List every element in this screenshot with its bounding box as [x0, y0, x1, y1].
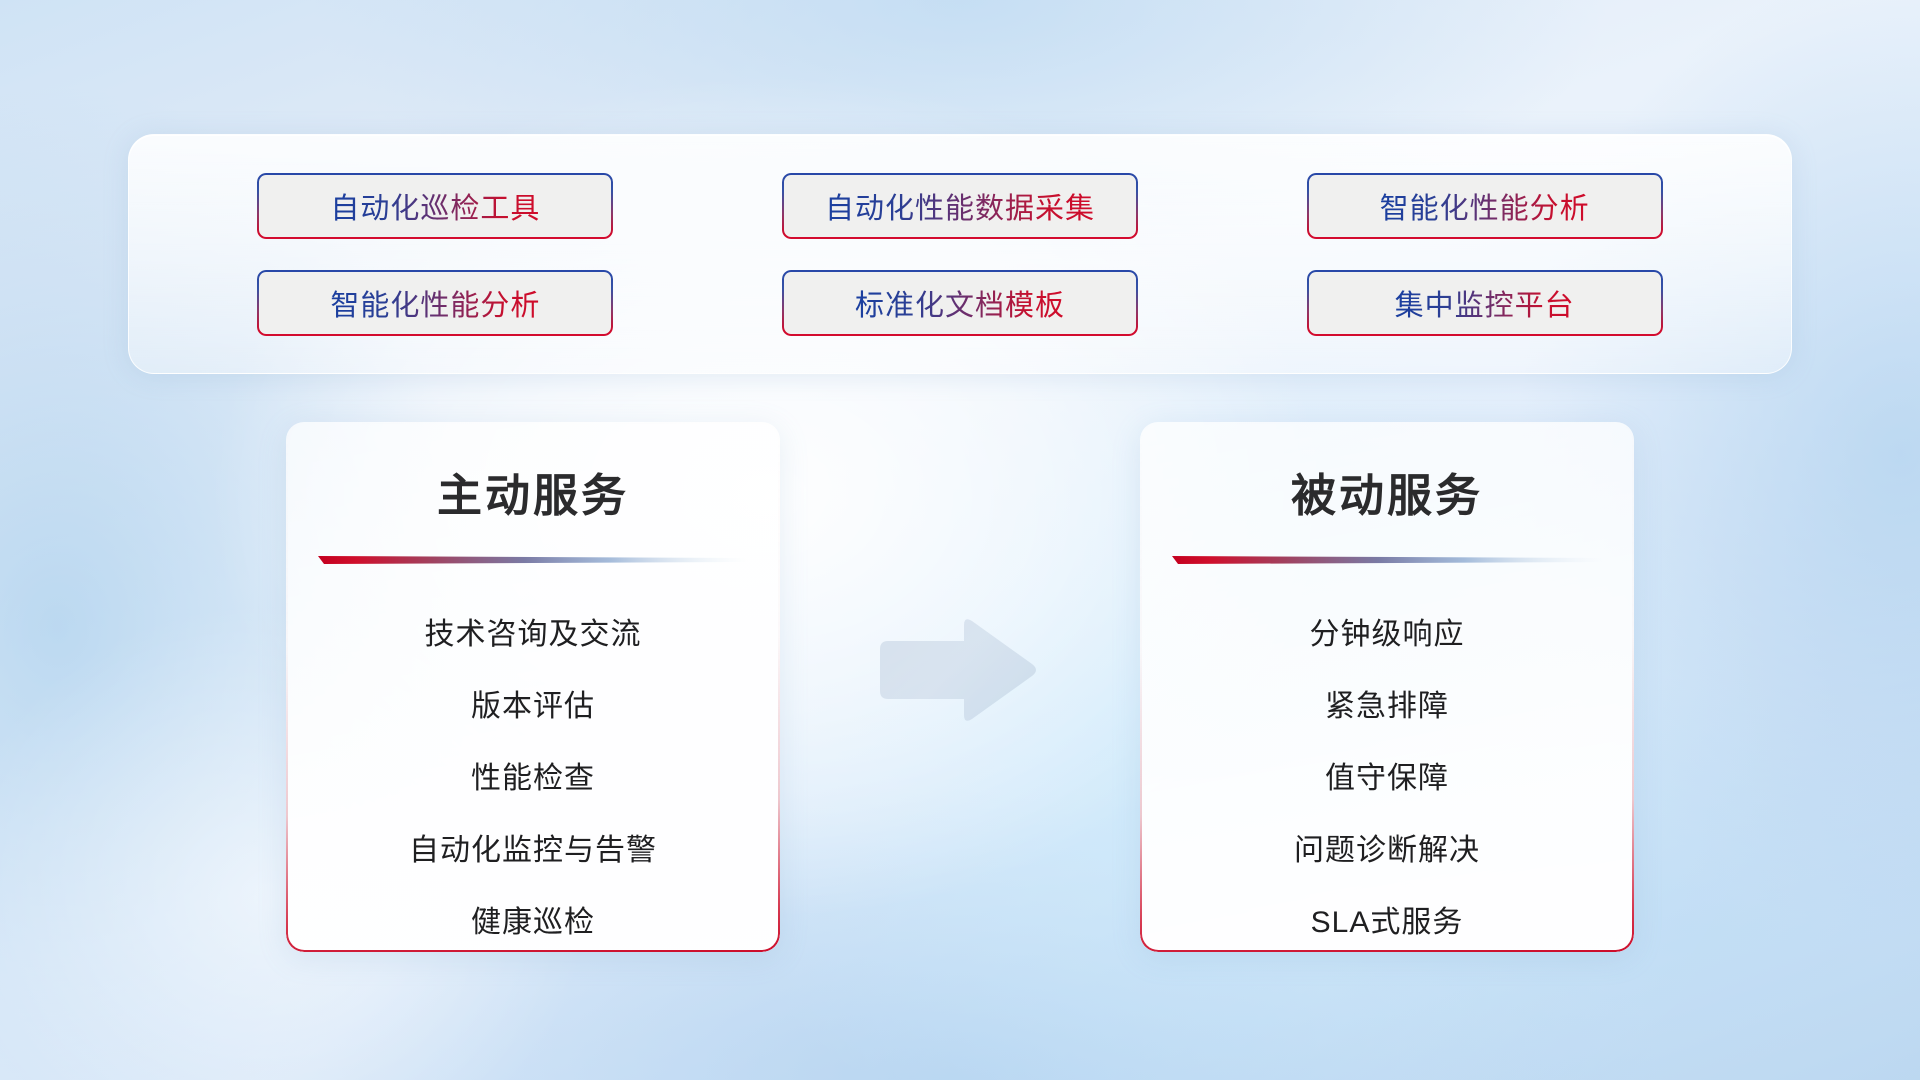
capability-pill-label: 标准化文档模板	[855, 282, 1065, 324]
list-item[interactable]: 健康巡检	[471, 887, 595, 952]
panel-divider	[318, 554, 748, 566]
capability-card: 自动化巡检工具 自动化性能数据采集 智能化性能分析 智能化性能分析 标准化文档模…	[128, 134, 1792, 374]
capability-pill-label: 智能化性能分析	[1380, 185, 1590, 227]
list-item[interactable]: 版本评估	[471, 671, 595, 743]
arrow-right-icon	[872, 615, 1038, 725]
list-item[interactable]: 问题诊断解决	[1294, 815, 1480, 887]
capability-pill[interactable]: 标准化文档模板	[782, 270, 1138, 336]
capability-pill[interactable]: 智能化性能分析	[257, 270, 613, 336]
divider-gradient-bar	[318, 554, 748, 566]
panel-item-list: 技术咨询及交流 版本评估 性能检查 自动化监控与告警 健康巡检	[286, 599, 780, 952]
capability-pill[interactable]: 智能化性能分析	[1307, 173, 1663, 239]
panel-title: 被动服务	[1140, 459, 1634, 524]
list-item[interactable]: 紧急排障	[1325, 671, 1449, 743]
panel-item-list: 分钟级响应 紧急排障 值守保障 问题诊断解决 SLA式服务	[1140, 599, 1634, 952]
list-item[interactable]: SLA式服务	[1311, 887, 1464, 952]
panel-divider	[1172, 554, 1602, 566]
capability-pill-label: 自动化性能数据采集	[825, 185, 1095, 227]
panel-proactive-service: 主动服务 技术咨询及交流 版本评估	[286, 422, 780, 952]
list-item[interactable]: 技术咨询及交流	[425, 599, 642, 671]
panel-title: 主动服务	[286, 459, 780, 524]
divider-gradient-bar	[1172, 554, 1602, 566]
capability-pill-label: 自动化巡检工具	[330, 185, 540, 227]
capability-pill[interactable]: 自动化巡检工具	[257, 173, 613, 239]
capability-pill-label: 集中监控平台	[1395, 282, 1575, 324]
list-item[interactable]: 自动化监控与告警	[409, 815, 657, 887]
capability-pill-grid: 自动化巡检工具 自动化性能数据采集 智能化性能分析 智能化性能分析 标准化文档模…	[129, 135, 1791, 373]
list-item[interactable]: 性能检查	[471, 743, 595, 815]
panel-reactive-service: 被动服务 分钟级响应 紧急排障	[1140, 422, 1634, 952]
diagram-stage: 自动化巡检工具 自动化性能数据采集 智能化性能分析 智能化性能分析 标准化文档模…	[0, 0, 1920, 1080]
capability-pill[interactable]: 自动化性能数据采集	[782, 173, 1138, 239]
list-item[interactable]: 分钟级响应	[1310, 599, 1465, 671]
capability-pill-label: 智能化性能分析	[330, 282, 540, 324]
list-item[interactable]: 值守保障	[1325, 743, 1449, 815]
capability-pill[interactable]: 集中监控平台	[1307, 270, 1663, 336]
